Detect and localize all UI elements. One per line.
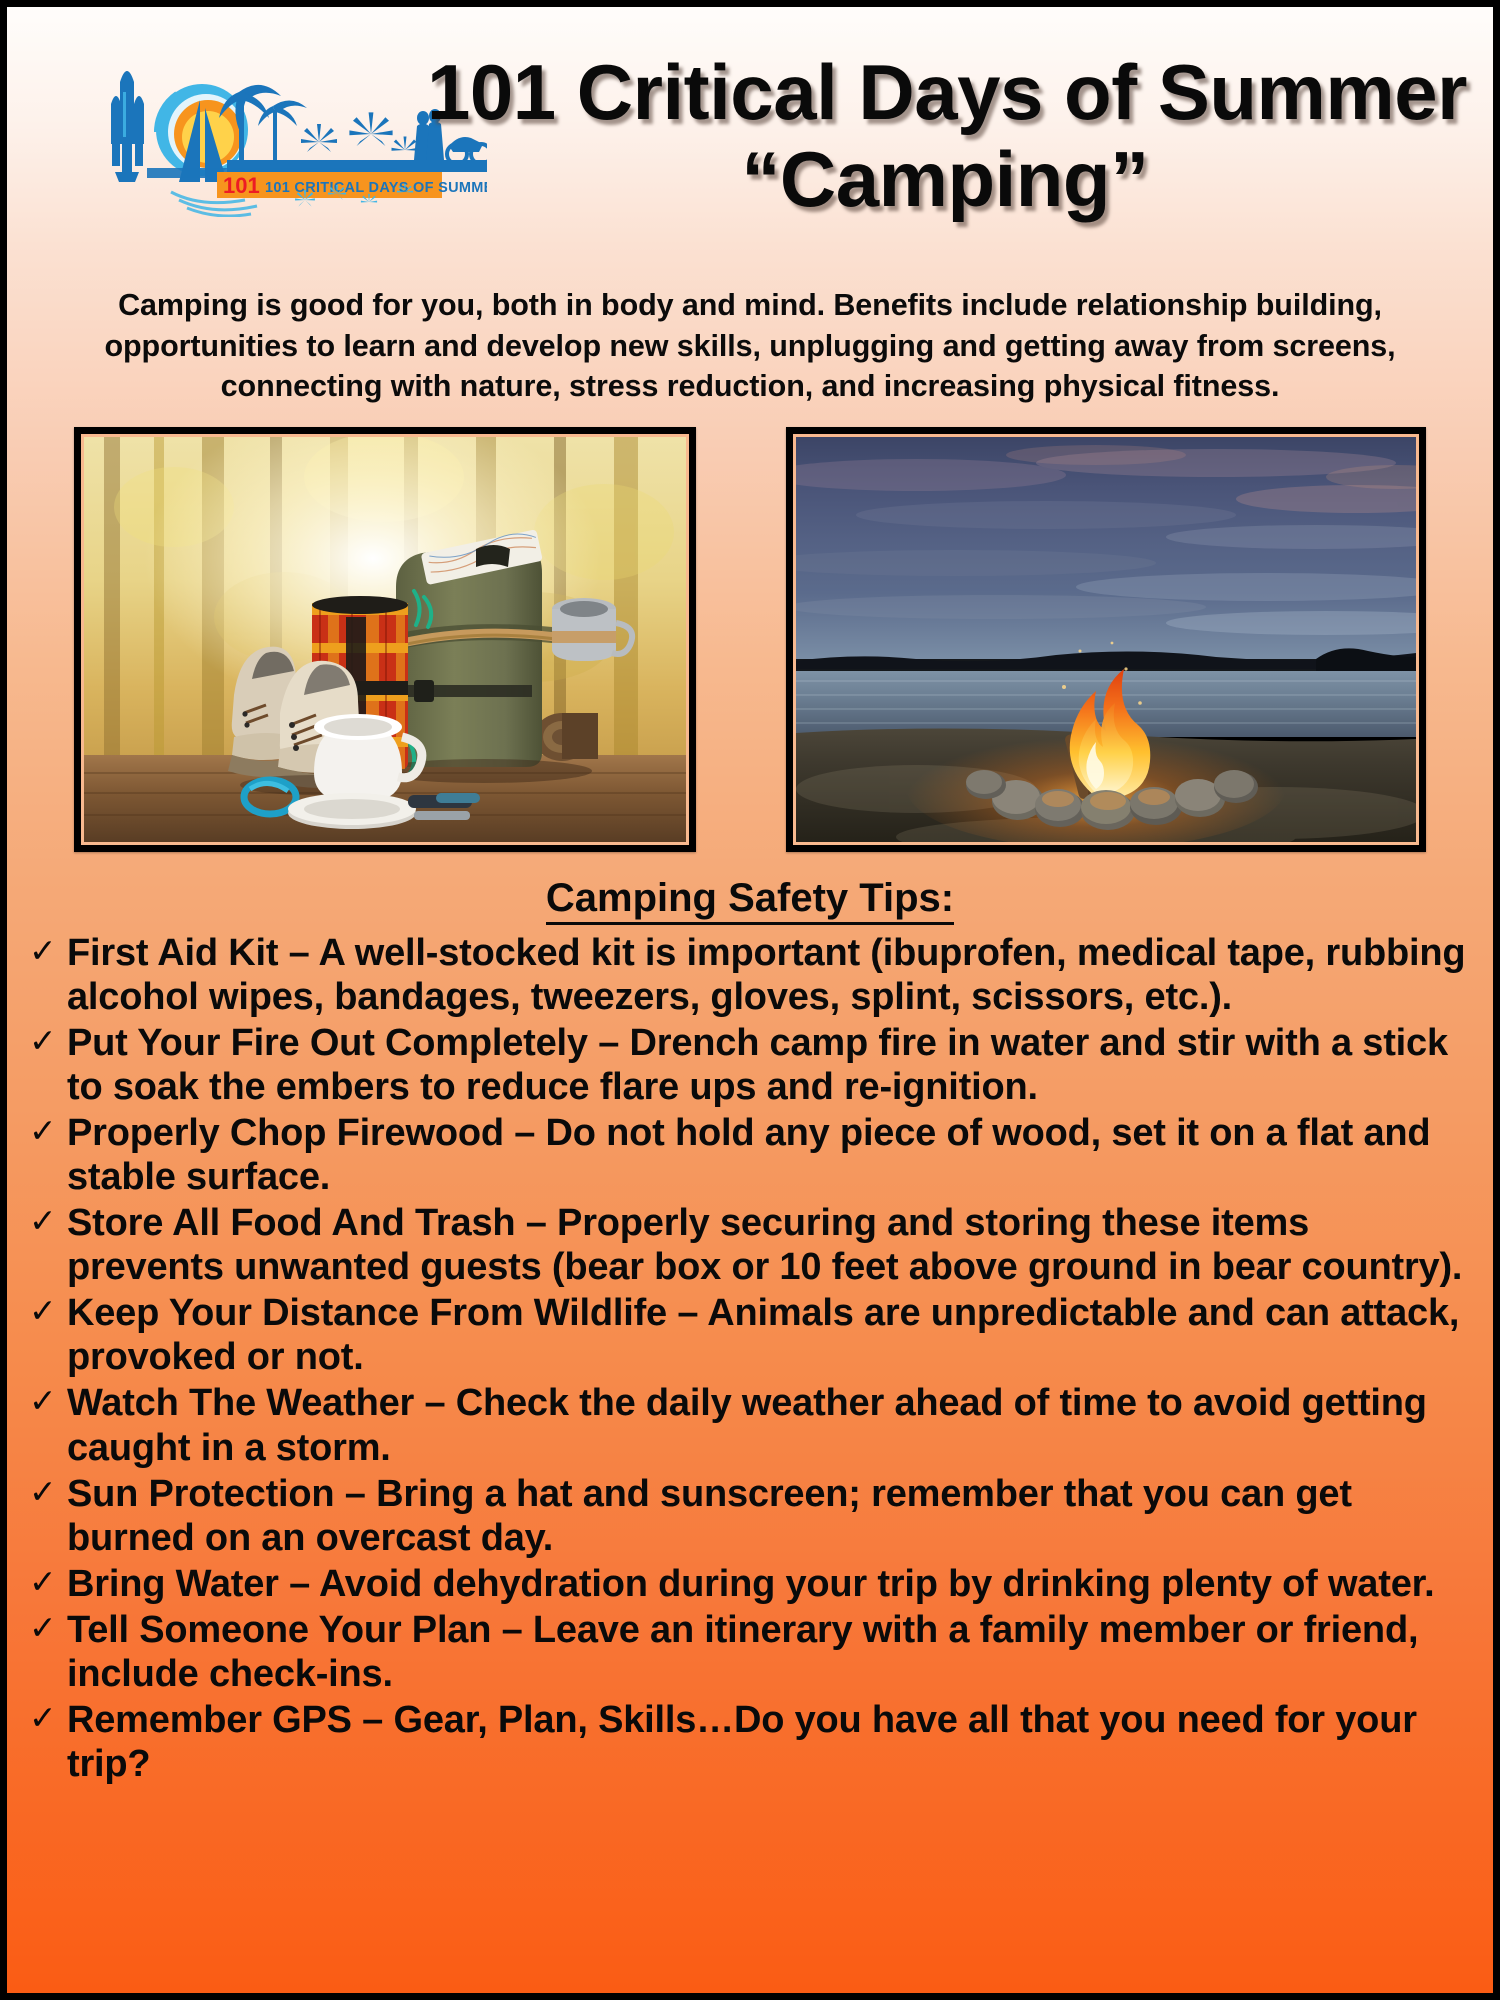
list-item: ✓ First Aid Kit – A well-stocked kit is … (25, 931, 1475, 1019)
list-item: ✓ Tell Someone Your Plan – Leave an itin… (25, 1608, 1475, 1696)
checkmark-icon: ✓ (29, 1473, 56, 1511)
list-item-text: Remember GPS – Gear, Plan, Skills…Do you… (67, 1699, 1417, 1785)
poster-page: 101 101 CRITICAL DAYS OF SUMMER (0, 0, 1500, 2000)
poster-header: 101 101 CRITICAL DAYS OF SUMMER (7, 7, 1493, 277)
list-item: ✓ Properly Chop Firewood – Do not hold a… (25, 1111, 1475, 1199)
list-item: ✓ Put Your Fire Out Completely – Drench … (25, 1021, 1475, 1109)
campfire-photo-frame (786, 427, 1426, 852)
checkmark-icon: ✓ (29, 1609, 56, 1647)
photo-row (7, 427, 1493, 852)
list-item-text: Watch The Weather – Check the daily weat… (67, 1382, 1427, 1468)
campfire-photo (796, 437, 1416, 842)
list-item-text: Put Your Fire Out Completely – Drench ca… (67, 1022, 1448, 1108)
list-item: ✓ Sun Protection – Bring a hat and sunsc… (25, 1472, 1475, 1560)
list-item: ✓ Store All Food And Trash – Properly se… (25, 1201, 1475, 1289)
checkmark-icon: ✓ (29, 1699, 56, 1737)
checkmark-icon: ✓ (29, 1382, 56, 1420)
camping-gear-photo-inner-border (81, 434, 689, 845)
tips-heading-text: Camping Safety Tips: (546, 876, 954, 925)
list-item: ✓ Keep Your Distance From Wildlife – Ani… (25, 1291, 1475, 1379)
camping-gear-photo (84, 437, 686, 842)
list-item: ✓ Remember GPS – Gear, Plan, Skills…Do y… (25, 1698, 1475, 1786)
checkmark-icon: ✓ (29, 1022, 56, 1060)
checkmark-icon: ✓ (29, 932, 56, 970)
list-item: ✓ Watch The Weather – Check the daily we… (25, 1381, 1475, 1469)
page-title: 101 Critical Days of Summer “Camping” (427, 49, 1463, 224)
logo-number-text: 101 (223, 173, 260, 198)
list-item-text: Sun Protection – Bring a hat and sunscre… (67, 1473, 1352, 1559)
title-line-2: “Camping” (427, 136, 1463, 223)
checkmark-icon: ✓ (29, 1292, 56, 1330)
title-line-1: 101 Critical Days of Summer (427, 49, 1463, 136)
list-item-text: Store All Food And Trash – Properly secu… (67, 1202, 1462, 1288)
list-item-text: Keep Your Distance From Wildlife – Anima… (67, 1292, 1459, 1378)
list-item-text: First Aid Kit – A well-stocked kit is im… (67, 932, 1465, 1018)
campfire-photo-inner-border (793, 434, 1419, 845)
intro-paragraph: Camping is good for you, both in body an… (41, 285, 1459, 407)
camping-safety-tips-list: ✓ First Aid Kit – A well-stocked kit is … (25, 931, 1475, 1786)
list-item: ✓ Bring Water – Avoid dehydration during… (25, 1562, 1475, 1606)
checkmark-icon: ✓ (29, 1202, 56, 1240)
checkmark-icon: ✓ (29, 1563, 56, 1601)
tips-heading: Camping Safety Tips: (7, 876, 1493, 921)
checkmark-icon: ✓ (29, 1112, 56, 1150)
list-item-text: Bring Water – Avoid dehydration during y… (67, 1563, 1434, 1605)
camping-gear-photo-frame (74, 427, 696, 852)
list-item-text: Properly Chop Firewood – Do not hold any… (67, 1112, 1430, 1198)
list-item-text: Tell Someone Your Plan – Leave an itiner… (67, 1609, 1418, 1695)
